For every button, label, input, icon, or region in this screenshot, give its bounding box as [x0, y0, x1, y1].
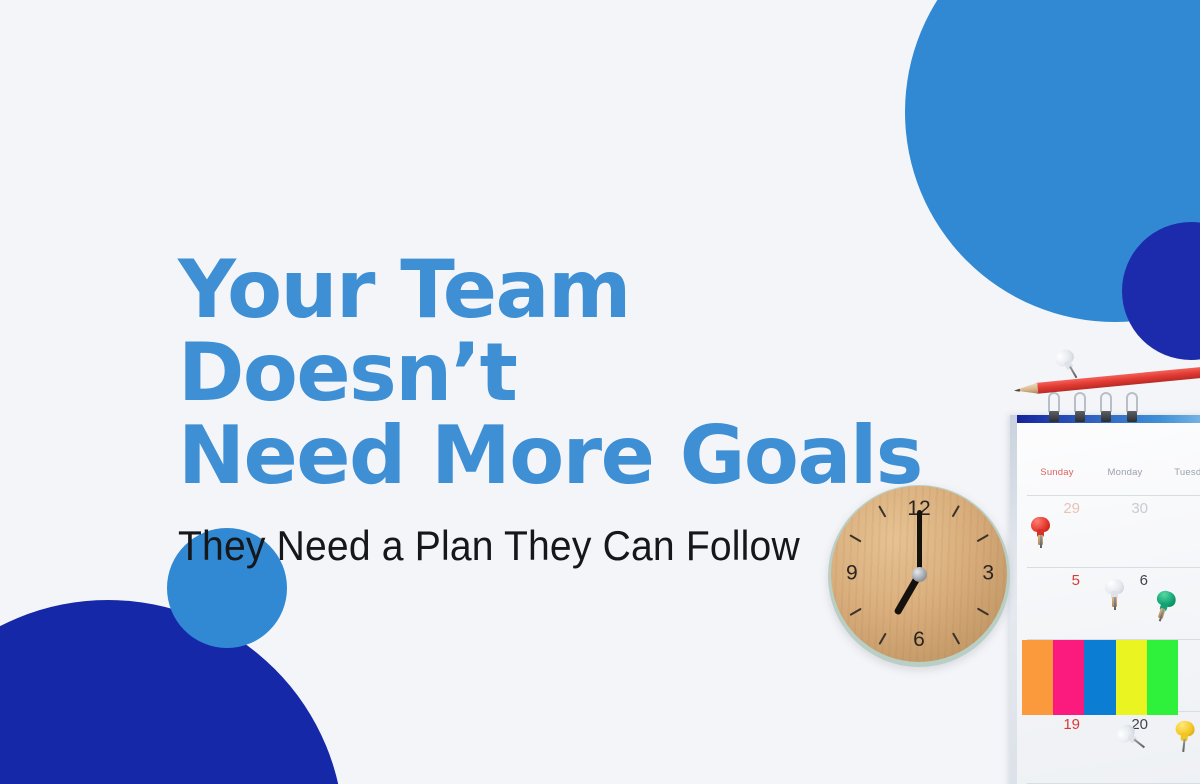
clock-tick: [849, 607, 861, 616]
poster-canvas: Your Team Doesn’t Need More Goals They N…: [0, 0, 1200, 784]
calendar-date-cell: 31: [1159, 495, 1200, 517]
sticky-tab-orange: [1022, 640, 1053, 715]
clock-tick: [976, 534, 988, 543]
page-subtitle: They Need a Plan They Can Follow: [178, 521, 903, 571]
clock-center-cap: [912, 567, 927, 582]
pencil-tip: [1013, 383, 1038, 396]
day-header-tuesday: Tuesday: [1159, 467, 1200, 487]
calendar-spiral-binding: [1048, 392, 1178, 426]
clock-numeral-3: 3: [982, 562, 994, 586]
calendar-day-headers: Sunday Monday Tuesday Wedn: [1023, 467, 1200, 487]
calendar-spine: [1010, 415, 1017, 784]
red-pushpin: [1026, 516, 1056, 546]
spiral-coil: [1100, 392, 1112, 420]
sticky-tab-yellow: [1116, 640, 1147, 715]
clock-minute-hand: [917, 510, 922, 574]
spiral-coil: [1074, 392, 1086, 420]
desk-photo: Sunday Monday Tuesday Wedn 29 30 31 5 6 …: [800, 330, 1200, 784]
sticky-tab-green: [1147, 640, 1178, 715]
calendar-date-cell: 7: [1159, 567, 1200, 589]
clock-tick: [878, 632, 887, 644]
wooden-desk-clock: 12 3 6 9: [828, 485, 1010, 667]
clock-face: 12 3 6 9: [831, 486, 1007, 662]
bottom-left-large-circle: [0, 600, 344, 784]
clock-numeral-6: 6: [913, 628, 925, 652]
clock-tick: [951, 632, 960, 644]
sticky-note-tabs: [1022, 640, 1178, 715]
clock-tick: [976, 607, 988, 616]
calendar-date-cell: 30: [1091, 495, 1159, 517]
calendar-date-cell: 29: [1023, 495, 1091, 517]
spiral-coil: [1048, 392, 1060, 420]
yellow-pushpin: [1169, 719, 1200, 752]
clock-tick: [951, 505, 960, 517]
day-header-monday: Monday: [1091, 467, 1159, 487]
day-header-sunday: Sunday: [1023, 467, 1091, 487]
white-pushpin: [1100, 578, 1130, 608]
clock-tick: [878, 505, 887, 517]
sticky-tab-magenta: [1053, 640, 1084, 715]
clock-numeral-9: 9: [846, 562, 858, 586]
pencil-lead: [1014, 389, 1020, 393]
spiral-coil: [1126, 392, 1138, 420]
calendar-date-cell: 5: [1023, 567, 1091, 589]
clock-tick: [849, 534, 861, 543]
sticky-tab-blue: [1084, 640, 1115, 715]
